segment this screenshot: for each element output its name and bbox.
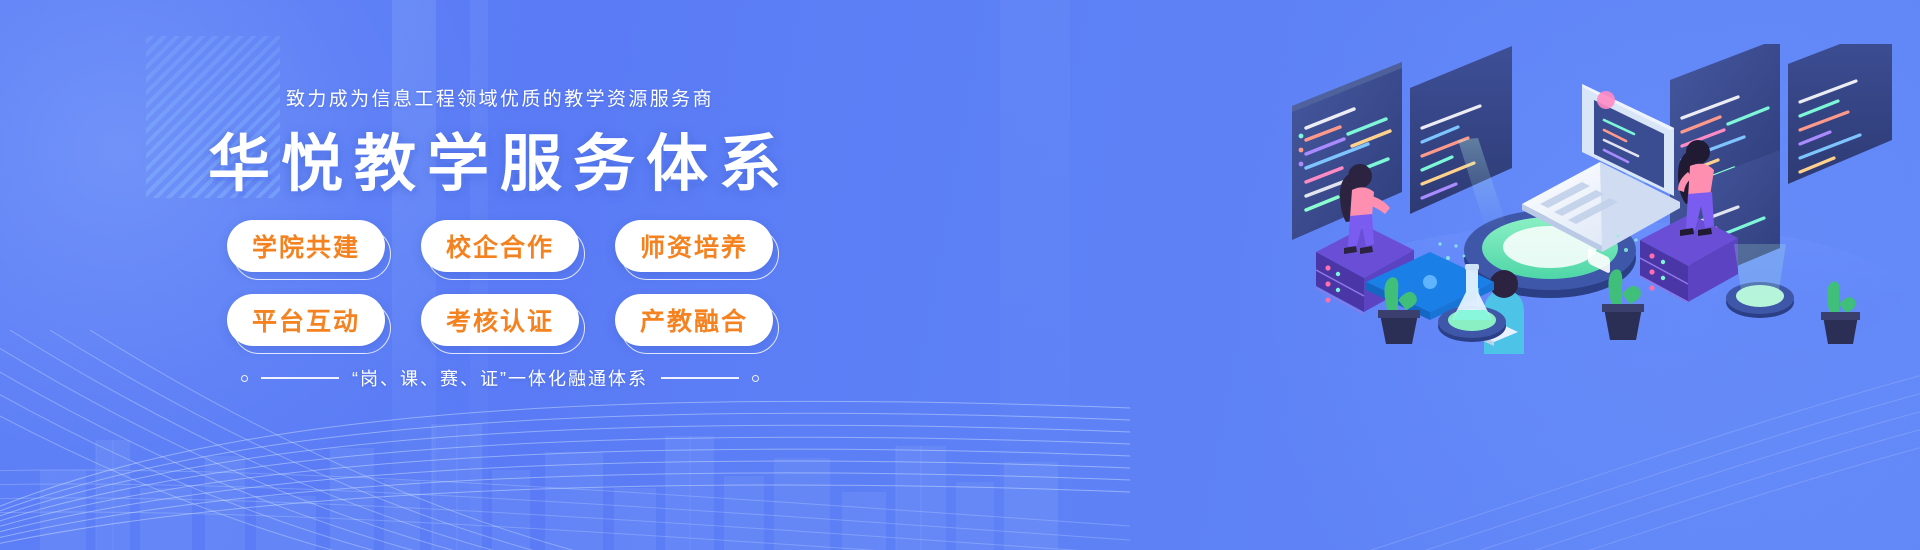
feature-pill-platform-interaction[interactable]: 平台互动 [227,294,385,346]
code-screen-panel-left-mid [1410,46,1512,214]
tagline-rule-left [261,377,339,378]
pill-wrapper: 校企合作 [421,220,579,272]
feature-pill-teacher-training[interactable]: 师资培养 [615,220,773,272]
banner-title: 华悦教学服务体系 [0,128,1000,202]
vertical-band [1000,0,1070,550]
tagline-rule-right [661,377,739,378]
feature-pill-assessment-certification[interactable]: 考核认证 [421,294,579,346]
tagline-dot-right [752,375,759,382]
feature-pill-row-1: 学院共建 校企合作 师资培养 [0,220,1000,272]
tagline-text: “岗、课、赛、证”一体化融通体系 [352,365,648,391]
feature-pill-groups: 学院共建 校企合作 师资培养 平台互动 考核认证 [0,220,1000,368]
tagline-dot-left [241,375,248,382]
isometric-tech-education-illustration [1282,44,1902,354]
pill-wrapper: 产教融合 [615,294,773,346]
hero-banner: 致力成为信息工程领域优质的教学资源服务商 华悦教学服务体系 学院共建 校企合作 … [0,0,1920,550]
feature-pill-college-cobuild[interactable]: 学院共建 [227,220,385,272]
feature-pill-industry-education[interactable]: 产教融合 [615,294,773,346]
pill-wrapper: 学院共建 [227,220,385,272]
banner-tagline: “岗、课、赛、证”一体化融通体系 [0,365,1000,391]
pill-wrapper: 平台互动 [227,294,385,346]
pill-wrapper: 考核认证 [421,294,579,346]
flowing-line-pattern-right [1360,350,1920,550]
feature-pill-school-enterprise[interactable]: 校企合作 [421,220,579,272]
banner-content: 致力成为信息工程领域优质的教学资源服务商 华悦教学服务体系 学院共建 校企合作 … [0,0,1000,550]
feature-pill-row-2: 平台互动 考核认证 产教融合 [0,294,1000,346]
pill-wrapper: 师资培养 [615,220,773,272]
banner-subtitle: 致力成为信息工程领域优质的教学资源服务商 [0,84,1000,111]
code-screen-panel-right-far [1788,44,1892,184]
